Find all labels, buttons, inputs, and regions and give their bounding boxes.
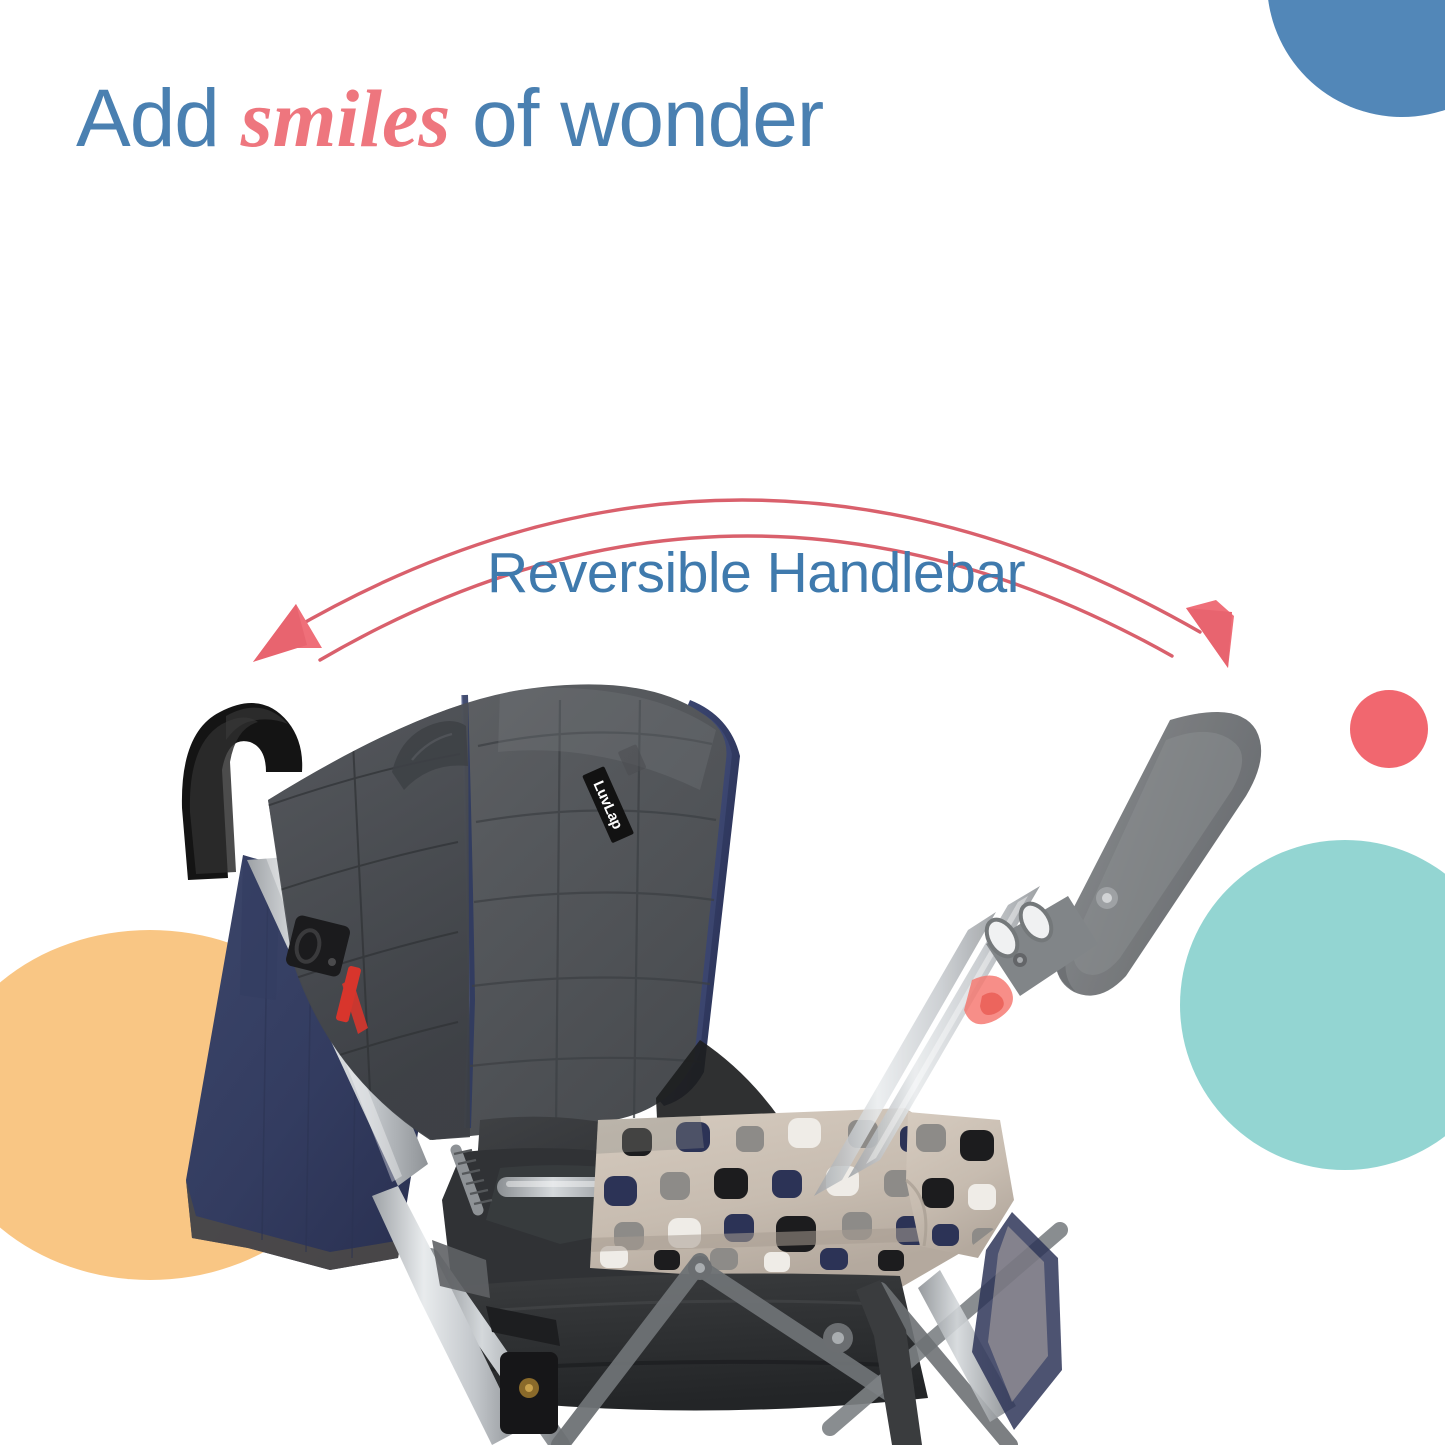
patterned-bumper xyxy=(586,1108,1014,1288)
stroller-illustration: LuvLap xyxy=(0,0,1445,1445)
promo-banner: Add smiles of wonder xyxy=(0,0,1445,1445)
handlebar-grip-right-ghost xyxy=(814,712,1261,1196)
callout-label: Reversible Handlebar xyxy=(487,545,1025,602)
